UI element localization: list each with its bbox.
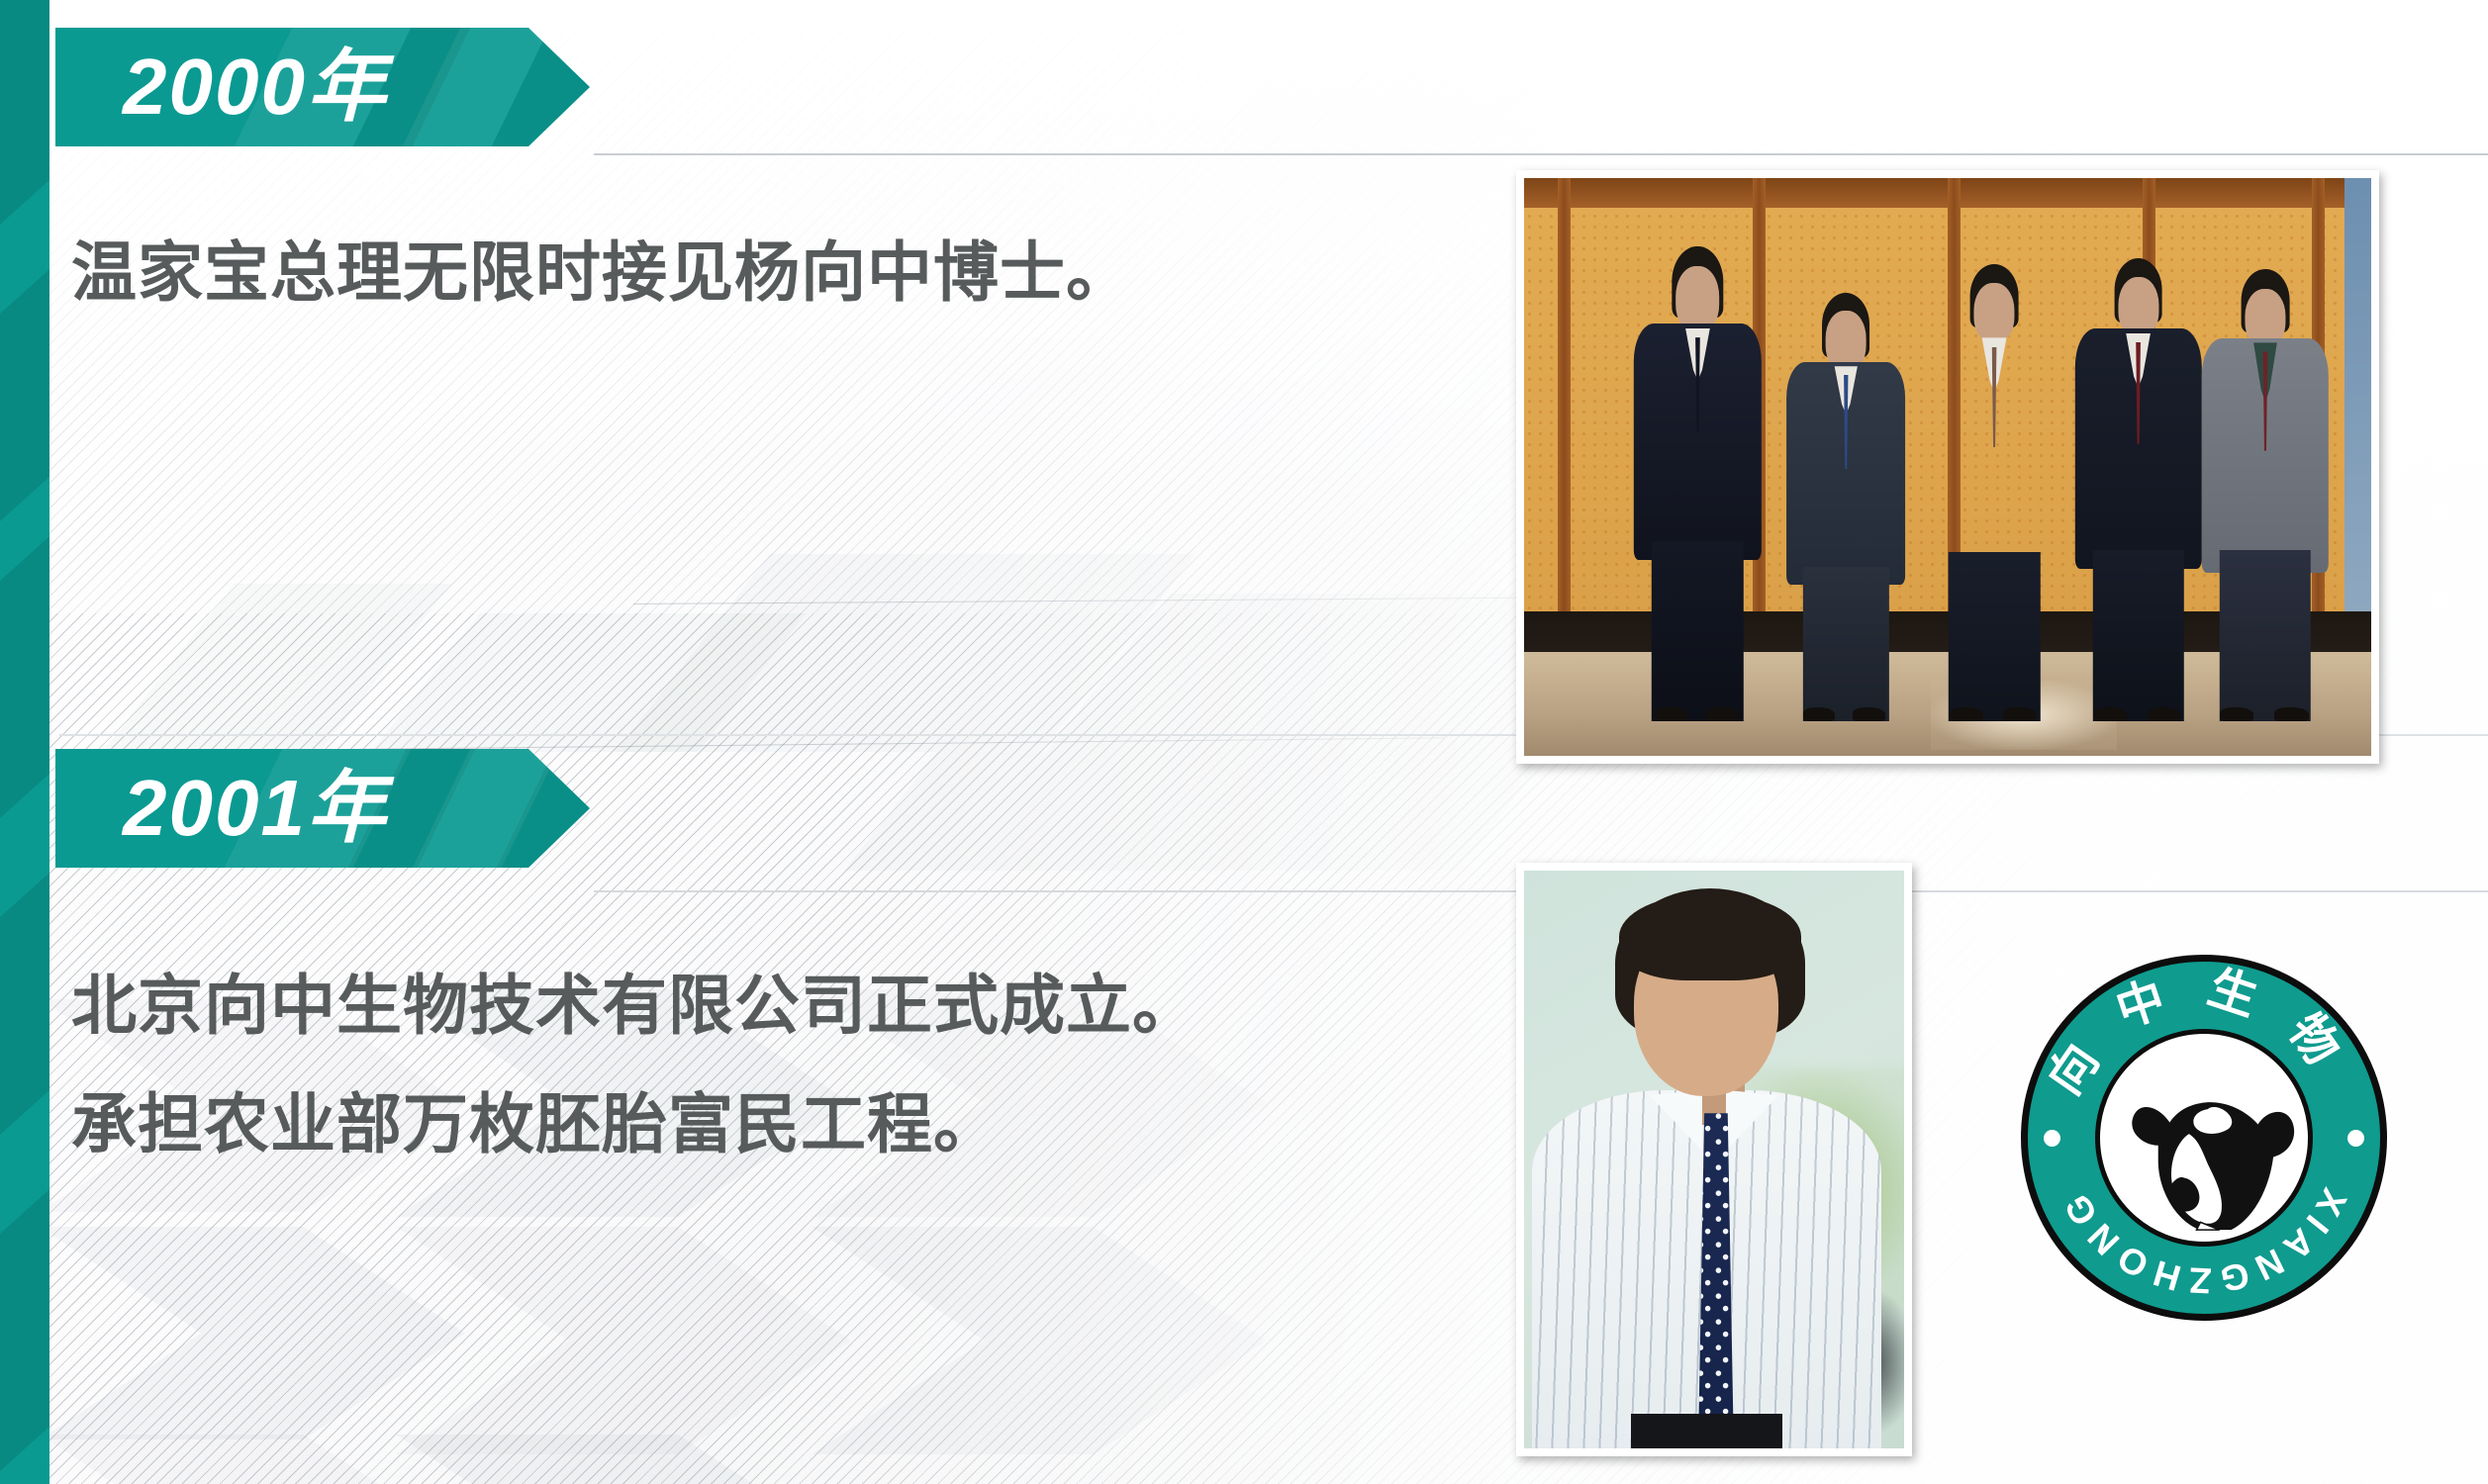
- gp-window: [2344, 178, 2371, 629]
- year-banner-2001[interactable]: 2001年: [55, 749, 590, 868]
- gp-person-4-legs: [2092, 550, 2183, 721]
- gp-person-1-shoe-l: [1655, 707, 1687, 721]
- cow-head-icon: [2108, 1046, 2308, 1238]
- gp-person-2-shoe-l: [1803, 707, 1835, 721]
- gp-person-5-legs: [2220, 550, 2311, 721]
- rail-shade-3: [0, 501, 49, 845]
- gp-person-5-shoe-l: [2220, 707, 2254, 721]
- gp-person-1-legs: [1652, 541, 1743, 721]
- slide-root: 2000年 温家宝总理无限时接见杨向中博士。: [0, 0, 2488, 1484]
- gp-person-3-shoe-l: [1950, 707, 1982, 721]
- description-line-2001-1: 北京向中生物技术有限公司正式成立。: [71, 953, 1198, 1048]
- group-photo[interactable]: [1516, 170, 2379, 764]
- logo-center-disc: [2095, 1029, 2314, 1248]
- gp-person-3-legs: [1949, 552, 2040, 721]
- logo-dot-right: [2347, 1130, 2364, 1147]
- gp-person-4-shoe-l: [2094, 707, 2127, 721]
- portrait-photo-image: [1524, 871, 1904, 1448]
- group-photo-image: [1524, 178, 2371, 756]
- logo-dot-left: [2044, 1130, 2060, 1147]
- year-label-2000: 2000年: [55, 47, 388, 127]
- rail-shade-1: [0, 0, 49, 251]
- gp-person-4-shoe-r: [2148, 707, 2180, 721]
- year-label-2001: 2001年: [55, 769, 388, 848]
- gp-person-1: [1634, 247, 1761, 721]
- gp-person-4: [2074, 259, 2201, 721]
- xiangzhong-logo[interactable]: 向中生物 XIANGZHONG: [2021, 955, 2387, 1321]
- left-accent-rail: [0, 0, 49, 1484]
- portrait-photo[interactable]: [1516, 863, 1912, 1456]
- gp-person-3-shoe-r: [2003, 707, 2036, 721]
- gp-person-2-legs: [1803, 567, 1888, 721]
- description-line-2001-2: 承担农业部万枚胚胎富民工程。: [71, 1071, 1000, 1166]
- description-line-2000-1: 温家宝总理无限时接见杨向中博士。: [71, 220, 1132, 315]
- gp-person-5: [2202, 270, 2329, 721]
- rail-shade-2: [0, 233, 49, 548]
- year-banner-2000[interactable]: 2000年: [55, 28, 590, 146]
- gp-person-1-shoe-r: [1705, 707, 1738, 721]
- gp-post-1: [1558, 178, 1571, 629]
- pt-hair-front: [1619, 893, 1801, 980]
- rail-shade-5: [0, 1154, 49, 1484]
- divider-line-top: [594, 153, 2488, 155]
- rail-shade-4: [0, 837, 49, 1161]
- gp-person-2: [1786, 294, 1905, 721]
- pt-belt: [1631, 1414, 1783, 1448]
- gp-person-3: [1931, 265, 2057, 721]
- gp-person-5-shoe-r: [2274, 707, 2309, 721]
- gp-person-2-shoe-r: [1853, 707, 1884, 721]
